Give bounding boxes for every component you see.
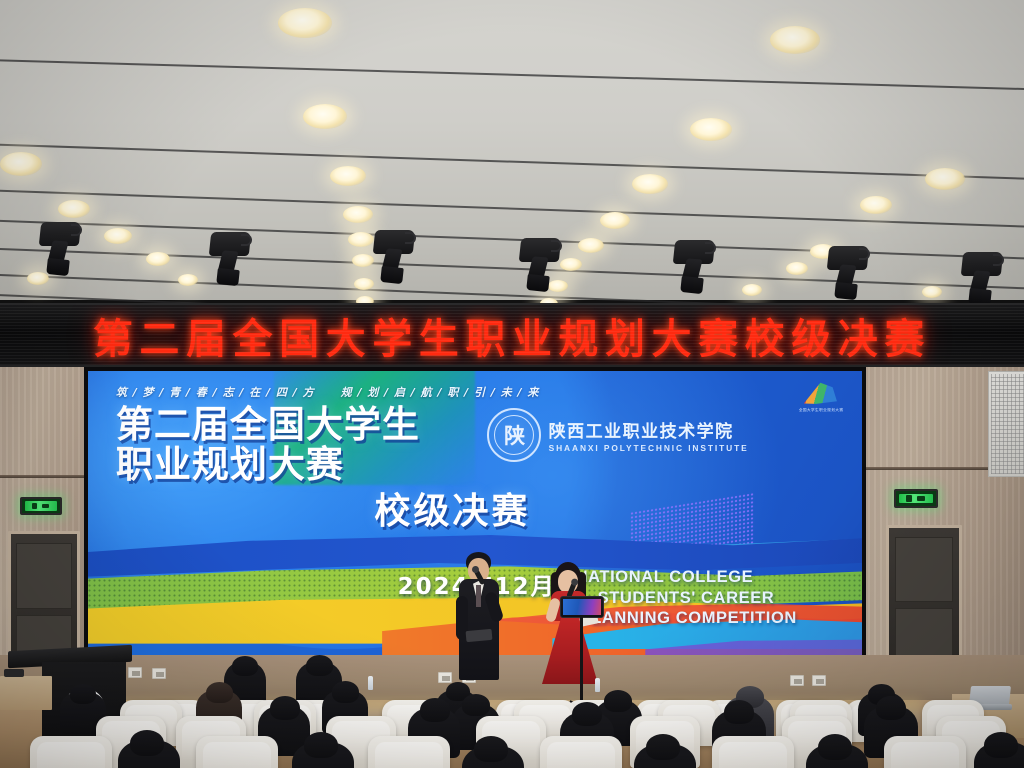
banner-text: 第二届全国大学生职业规划大赛校级决赛 <box>93 305 931 365</box>
wall-outlet[interactable] <box>812 675 826 686</box>
host-male-cue-card <box>466 629 493 642</box>
crest-mark: 陕 <box>504 420 523 450</box>
school-names: 陕西工业职业技术学院 SHAANXI POLYTECHNIC INSTITUTE <box>549 417 749 453</box>
exit-sign-glow <box>899 494 933 504</box>
english-line-3: PLANNING COMPETITION <box>576 608 797 629</box>
water-bottle <box>368 676 373 690</box>
phone-tripod[interactable] <box>560 596 604 716</box>
exit-sign-right <box>894 489 938 508</box>
audience-head <box>876 696 906 720</box>
ceiling-downlight <box>600 212 630 229</box>
ceiling-downlight <box>354 278 374 290</box>
wall-trim <box>0 475 92 478</box>
stage-spotlight <box>372 230 418 288</box>
audience-head <box>420 698 450 722</box>
audience-head <box>818 734 852 760</box>
screen-english-title: NATIONAL COLLEGE STUDENTS' CAREER PLANNI… <box>576 567 797 629</box>
stage-spotlight <box>208 232 254 290</box>
ceiling-downlight <box>303 104 347 129</box>
seat[interactable] <box>884 736 966 768</box>
competition-logo: 全国大学生职业规划大赛 <box>797 382 843 413</box>
ceiling-downlight <box>632 174 668 194</box>
screen-tagline: 筑 / 梦 / 青 / 春 / 志 / 在 / 四 / 方 规 / 划 / 启 … <box>116 384 540 400</box>
ceiling-downlight <box>742 284 762 296</box>
screen-subtitle: 校级决赛 <box>374 482 530 534</box>
ceiling-downlight <box>786 262 808 275</box>
ceiling-downlight <box>278 8 332 38</box>
ceiling-downlight <box>178 274 198 286</box>
ceiling-downlight <box>58 200 90 218</box>
air-vent-grille <box>988 371 1024 477</box>
screen-title: 第二届全国大学生 职业规划大赛 <box>116 405 420 485</box>
seat[interactable] <box>368 736 450 768</box>
led-title-banner: 第二届全国大学生职业规划大赛校级决赛 <box>0 303 1024 367</box>
tagline-right: 规 / 划 / 启 / 航 / 职 / 引 / 未 / 来 <box>341 384 540 400</box>
judge-head <box>232 656 258 676</box>
sail-wave-icon <box>802 382 838 404</box>
phone-screen <box>563 599 601 615</box>
ceiling-downlight <box>0 152 42 176</box>
stage-spotlight <box>672 240 718 298</box>
screen-title-line1: 第二届全国大学生 <box>116 405 420 445</box>
exit-sign-glow <box>25 501 58 510</box>
english-line-1: NATIONAL COLLEGE <box>576 567 797 588</box>
audience-head <box>646 734 680 760</box>
stage-spotlight <box>960 252 1006 310</box>
ceiling-downlight <box>860 196 892 214</box>
audience-head <box>474 736 508 762</box>
audience-head <box>304 732 338 758</box>
school-name-cn: 陕西工业职业技术学院 <box>549 417 749 442</box>
stage-spotlight <box>38 222 84 280</box>
audience-head <box>572 702 602 726</box>
ceiling-seam <box>0 142 1024 181</box>
exit-sign-left <box>20 497 62 515</box>
school-logo-lockup: 陕 陕西工业职业技术学院 SHAANXI POLYTECHNIC INSTITU… <box>487 408 749 462</box>
wall-outlet[interactable] <box>152 668 166 679</box>
audience-head <box>462 694 490 716</box>
smartphone-recording[interactable] <box>560 596 604 618</box>
door-panel <box>16 543 71 609</box>
audience-head <box>332 681 359 703</box>
screen-title-line2: 职业规划大赛 <box>116 445 420 485</box>
wall-outlet[interactable] <box>438 672 452 683</box>
table-object <box>4 669 24 677</box>
host-male <box>455 552 503 680</box>
audience-head <box>130 730 164 756</box>
seat[interactable] <box>540 736 622 768</box>
ceiling-downlight <box>343 206 373 223</box>
host-male-tie <box>476 585 481 607</box>
ceiling-seam <box>0 58 1024 91</box>
audience-head <box>724 700 754 724</box>
door-panel <box>895 537 954 603</box>
ceiling-downlight <box>348 232 374 247</box>
ceiling-downlight <box>922 286 942 298</box>
ceiling-downlight <box>578 238 604 253</box>
ceiling-downlight <box>925 168 965 190</box>
ceiling-downlight <box>690 118 732 141</box>
water-bottle <box>595 678 600 692</box>
competition-logo-caption: 全国大学生职业规划大赛 <box>798 408 840 414</box>
tagline-left: 筑 / 梦 / 青 / 春 / 志 / 在 / 四 / 方 <box>116 384 315 400</box>
ceiling-downlight <box>146 252 170 266</box>
stage-spotlight <box>826 246 872 304</box>
stage-spotlight <box>518 238 564 296</box>
seat[interactable] <box>30 736 112 768</box>
english-line-2: STUDENTS' CAREER <box>576 588 797 609</box>
ceiling <box>0 0 1024 300</box>
audience-head <box>270 696 300 720</box>
audience-head <box>70 684 96 704</box>
ceiling-downlight <box>770 26 820 54</box>
seat[interactable] <box>196 736 278 768</box>
school-crest-icon: 陕 <box>487 408 541 462</box>
side-table-left <box>0 676 52 710</box>
vent-mesh <box>991 374 1024 474</box>
wall-outlet[interactable] <box>790 675 804 686</box>
audience-head <box>206 682 233 703</box>
ceiling-downlight <box>330 166 366 186</box>
audience-head <box>984 732 1018 758</box>
wall-right <box>862 367 1024 697</box>
audience-head <box>604 690 632 712</box>
judge-head <box>306 655 333 676</box>
auditorium-scene: 第二届全国大学生职业规划大赛校级决赛 <box>0 0 1024 768</box>
tripod-pole <box>580 616 583 712</box>
ceiling-downlight <box>352 254 374 267</box>
seat[interactable] <box>712 736 794 768</box>
ceiling-downlight <box>104 228 132 244</box>
school-name-en: SHAANXI POLYTECHNIC INSTITUTE <box>549 443 749 453</box>
